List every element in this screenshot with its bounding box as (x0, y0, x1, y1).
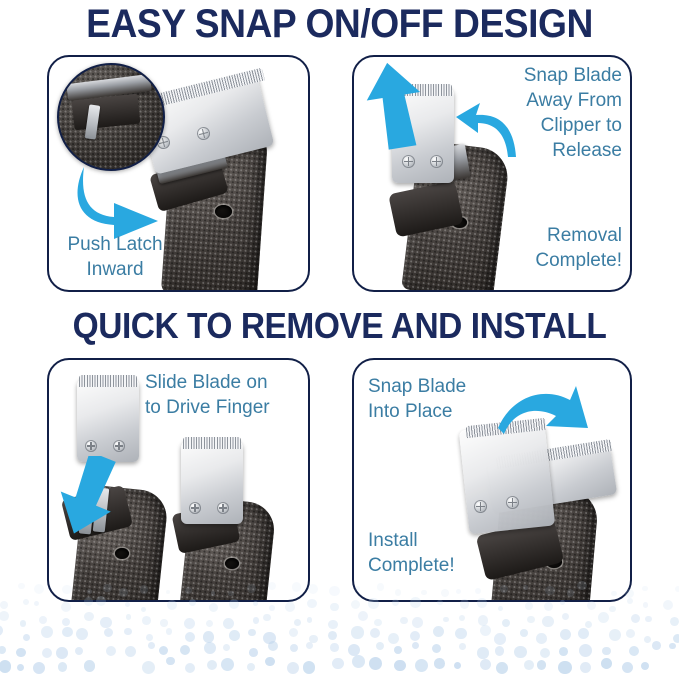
decorative-dot (0, 611, 9, 621)
decorative-dot (268, 641, 278, 651)
clipper-port-3-left (115, 548, 129, 559)
decorative-dot (477, 647, 488, 658)
decorative-dot (185, 663, 195, 673)
decorative-dot (0, 660, 11, 673)
decorative-dot (560, 629, 571, 640)
decorative-dot (602, 647, 610, 655)
blade-teeth-3-left (79, 375, 137, 387)
decorative-dot (432, 644, 441, 653)
decorative-dot (75, 647, 83, 655)
decorative-dot (652, 641, 661, 650)
decorative-dot (580, 662, 591, 673)
decorative-dot (16, 648, 26, 658)
decorative-dot (525, 602, 533, 610)
decorative-dot (394, 646, 402, 654)
decorative-dot (478, 615, 488, 625)
decorative-dot (263, 614, 270, 621)
panel-slide-blade-on: Slide Blade on to Drive Finger (47, 358, 310, 602)
decorative-dot (598, 612, 609, 623)
decorative-dot (307, 599, 316, 608)
decorative-dot (642, 586, 647, 591)
panel-push-latch: Push Latch Inward (47, 55, 310, 292)
decorative-dot (223, 644, 230, 651)
decorative-dot (498, 606, 503, 611)
decorative-dot (376, 642, 384, 650)
snap-into-place-caption: Snap Blade Into Place (368, 374, 518, 424)
curved-right-arrow (74, 165, 166, 241)
decorative-dot (410, 631, 420, 641)
decorative-dot (185, 632, 196, 643)
decorative-dot (673, 634, 679, 643)
decorative-dot (587, 601, 596, 610)
decorative-dot (415, 659, 428, 672)
decorative-dot (308, 584, 318, 594)
decorative-dot (643, 602, 648, 607)
install-complete-caption: Install Complete! (368, 528, 518, 578)
decorative-dot (329, 586, 339, 596)
decorative-dot (125, 602, 130, 607)
decorative-dot (148, 642, 155, 649)
decorative-dot (609, 629, 621, 641)
decorative-dot (443, 617, 448, 622)
decorative-dot (412, 617, 423, 628)
blade-teeth-3-right (183, 437, 241, 449)
decorative-dot (644, 636, 651, 643)
decorative-dot (207, 660, 217, 670)
decorative-dot (562, 613, 569, 620)
decorative-dot (247, 663, 255, 671)
slide-blade-caption: Slide Blade on to Drive Finger (145, 370, 305, 420)
decorative-dot (141, 607, 146, 612)
decorative-dot (585, 621, 592, 628)
decorative-dot (480, 659, 491, 670)
decorative-dot (58, 662, 68, 672)
decorative-dot (23, 599, 29, 605)
page-title-middle: QUICK TO REMOVE AND INSTALL (24, 305, 655, 347)
decorative-dot (348, 644, 360, 656)
up-arrow (364, 62, 428, 150)
decorative-dot (0, 601, 8, 609)
decorative-dot (309, 635, 317, 643)
decorative-dot (663, 600, 673, 610)
decorative-dot (631, 614, 640, 623)
decorative-dot (229, 630, 240, 641)
decorative-dot (17, 664, 24, 671)
blade-screw-left-2 (402, 155, 415, 168)
removal-complete-caption: Removal Complete! (464, 223, 622, 273)
decorative-dot (56, 647, 68, 659)
decorative-dot (125, 646, 136, 657)
decorative-dot (459, 643, 466, 650)
decorative-dot (328, 620, 338, 630)
decorative-dot (76, 628, 88, 640)
decorative-dot (265, 657, 274, 666)
decorative-dot (62, 618, 70, 626)
decorative-dot (351, 600, 360, 609)
decorative-dot (248, 629, 255, 636)
decorative-dot (328, 631, 337, 640)
decorative-dot (400, 617, 408, 625)
down-left-arrow (55, 456, 121, 538)
decorative-dot (434, 658, 445, 669)
decorative-dot (495, 646, 504, 655)
decorative-dot (303, 661, 316, 674)
decorative-dot (330, 643, 338, 651)
decorative-dot (627, 598, 633, 604)
clipper-port-1 (215, 205, 232, 218)
decorative-dot (641, 662, 649, 670)
decorative-dot (34, 601, 39, 606)
panel-snap-blade-away: Snap Blade Away From Clipper to Release … (352, 55, 632, 292)
decorative-dot (480, 625, 491, 636)
magnifier-inset-latch (57, 63, 165, 171)
decorative-dot (558, 661, 571, 674)
decorative-dot (455, 628, 466, 639)
decorative-dot (626, 629, 635, 638)
decorative-dot (249, 648, 258, 657)
decorative-dot (459, 615, 465, 621)
decorative-dot (514, 646, 526, 658)
decorative-dot (146, 634, 153, 641)
decorative-dot (285, 602, 295, 612)
decorative-dot (433, 626, 445, 638)
decorative-dot (166, 657, 174, 665)
decorative-dot (61, 602, 71, 612)
decorative-dot (578, 628, 589, 639)
decorative-dot (559, 647, 568, 656)
decorative-dot (289, 628, 298, 637)
decorative-dot (307, 617, 313, 623)
decorative-dot (675, 586, 679, 592)
decorative-dot (221, 658, 235, 672)
decorative-dot (609, 606, 616, 613)
decorative-dot (33, 662, 45, 674)
decorative-dot (209, 603, 218, 612)
decorative-dot (369, 657, 382, 670)
decorative-dot (62, 627, 73, 638)
decorative-dot (622, 662, 633, 673)
decorative-dot (269, 605, 275, 611)
page-title-top: EASY SNAP ON/OFF DESIGN (24, 2, 655, 47)
decorative-dot (306, 642, 313, 649)
decorative-dot (106, 646, 116, 656)
decorative-dot (540, 648, 550, 658)
decorative-dot (34, 584, 44, 594)
decorative-dot (180, 645, 190, 655)
decorative-dot (454, 662, 461, 669)
decorative-dot (287, 662, 299, 674)
push-latch-caption: Push Latch Inward (53, 232, 177, 282)
decorative-dot (42, 648, 52, 658)
decorative-dot (294, 619, 301, 626)
decorative-dot (23, 634, 30, 641)
panel-snap-into-place: Snap Blade Into Place Install Complete! (352, 358, 632, 602)
decorative-dot (358, 611, 368, 621)
decorative-dot (206, 620, 213, 627)
decorative-dot (166, 628, 173, 635)
decorative-dot (0, 646, 6, 654)
decorative-dot (204, 642, 216, 654)
decorative-dot (524, 660, 534, 670)
decorative-dot (18, 583, 25, 590)
clipper-port-3-right (225, 558, 239, 569)
decorative-dot (203, 631, 215, 643)
decorative-dot (159, 646, 168, 655)
decorative-dot (601, 658, 612, 669)
decorative-dot (629, 646, 639, 656)
decorative-dot (330, 603, 339, 612)
decorative-dot (496, 662, 508, 674)
decorative-dot (351, 626, 363, 638)
decorative-dot (670, 617, 679, 626)
decorative-dot (388, 633, 399, 644)
decorative-dot (142, 616, 151, 625)
decorative-dot (537, 660, 546, 669)
decorative-dot (544, 602, 553, 611)
decorative-dot (263, 632, 275, 644)
decorative-dot (494, 633, 506, 645)
decorative-dot (332, 658, 344, 670)
decorative-dot (290, 644, 298, 652)
decorative-dot (542, 616, 553, 627)
decorative-dot (39, 616, 47, 624)
decorative-dot (223, 618, 234, 629)
decorative-dot (370, 628, 380, 638)
decorative-dot (669, 643, 676, 650)
snap-away-caption: Snap Blade Away From Clipper to Release (464, 63, 622, 163)
decorative-dot (160, 619, 167, 626)
decorative-dot (84, 612, 93, 621)
decorative-dot (41, 626, 53, 638)
decorative-dot (0, 625, 3, 636)
decorative-dot (124, 628, 132, 636)
decorative-dot (579, 644, 592, 657)
decorative-dot (527, 616, 535, 624)
decorative-dot (126, 614, 132, 620)
decorative-dot (412, 642, 419, 649)
decorative-dot (184, 618, 195, 629)
decorative-dot (374, 619, 382, 627)
decorative-dot (142, 661, 155, 674)
decorative-dot (253, 617, 259, 623)
decorative-dot (502, 619, 511, 628)
decorative-dot (645, 616, 651, 622)
decorative-dot (536, 633, 547, 644)
blade-screw-right-2 (430, 155, 443, 168)
decorative-dot (100, 617, 112, 629)
decorative-dot (520, 629, 528, 637)
decorative-dot (20, 620, 27, 627)
decorative-dot (104, 628, 113, 637)
